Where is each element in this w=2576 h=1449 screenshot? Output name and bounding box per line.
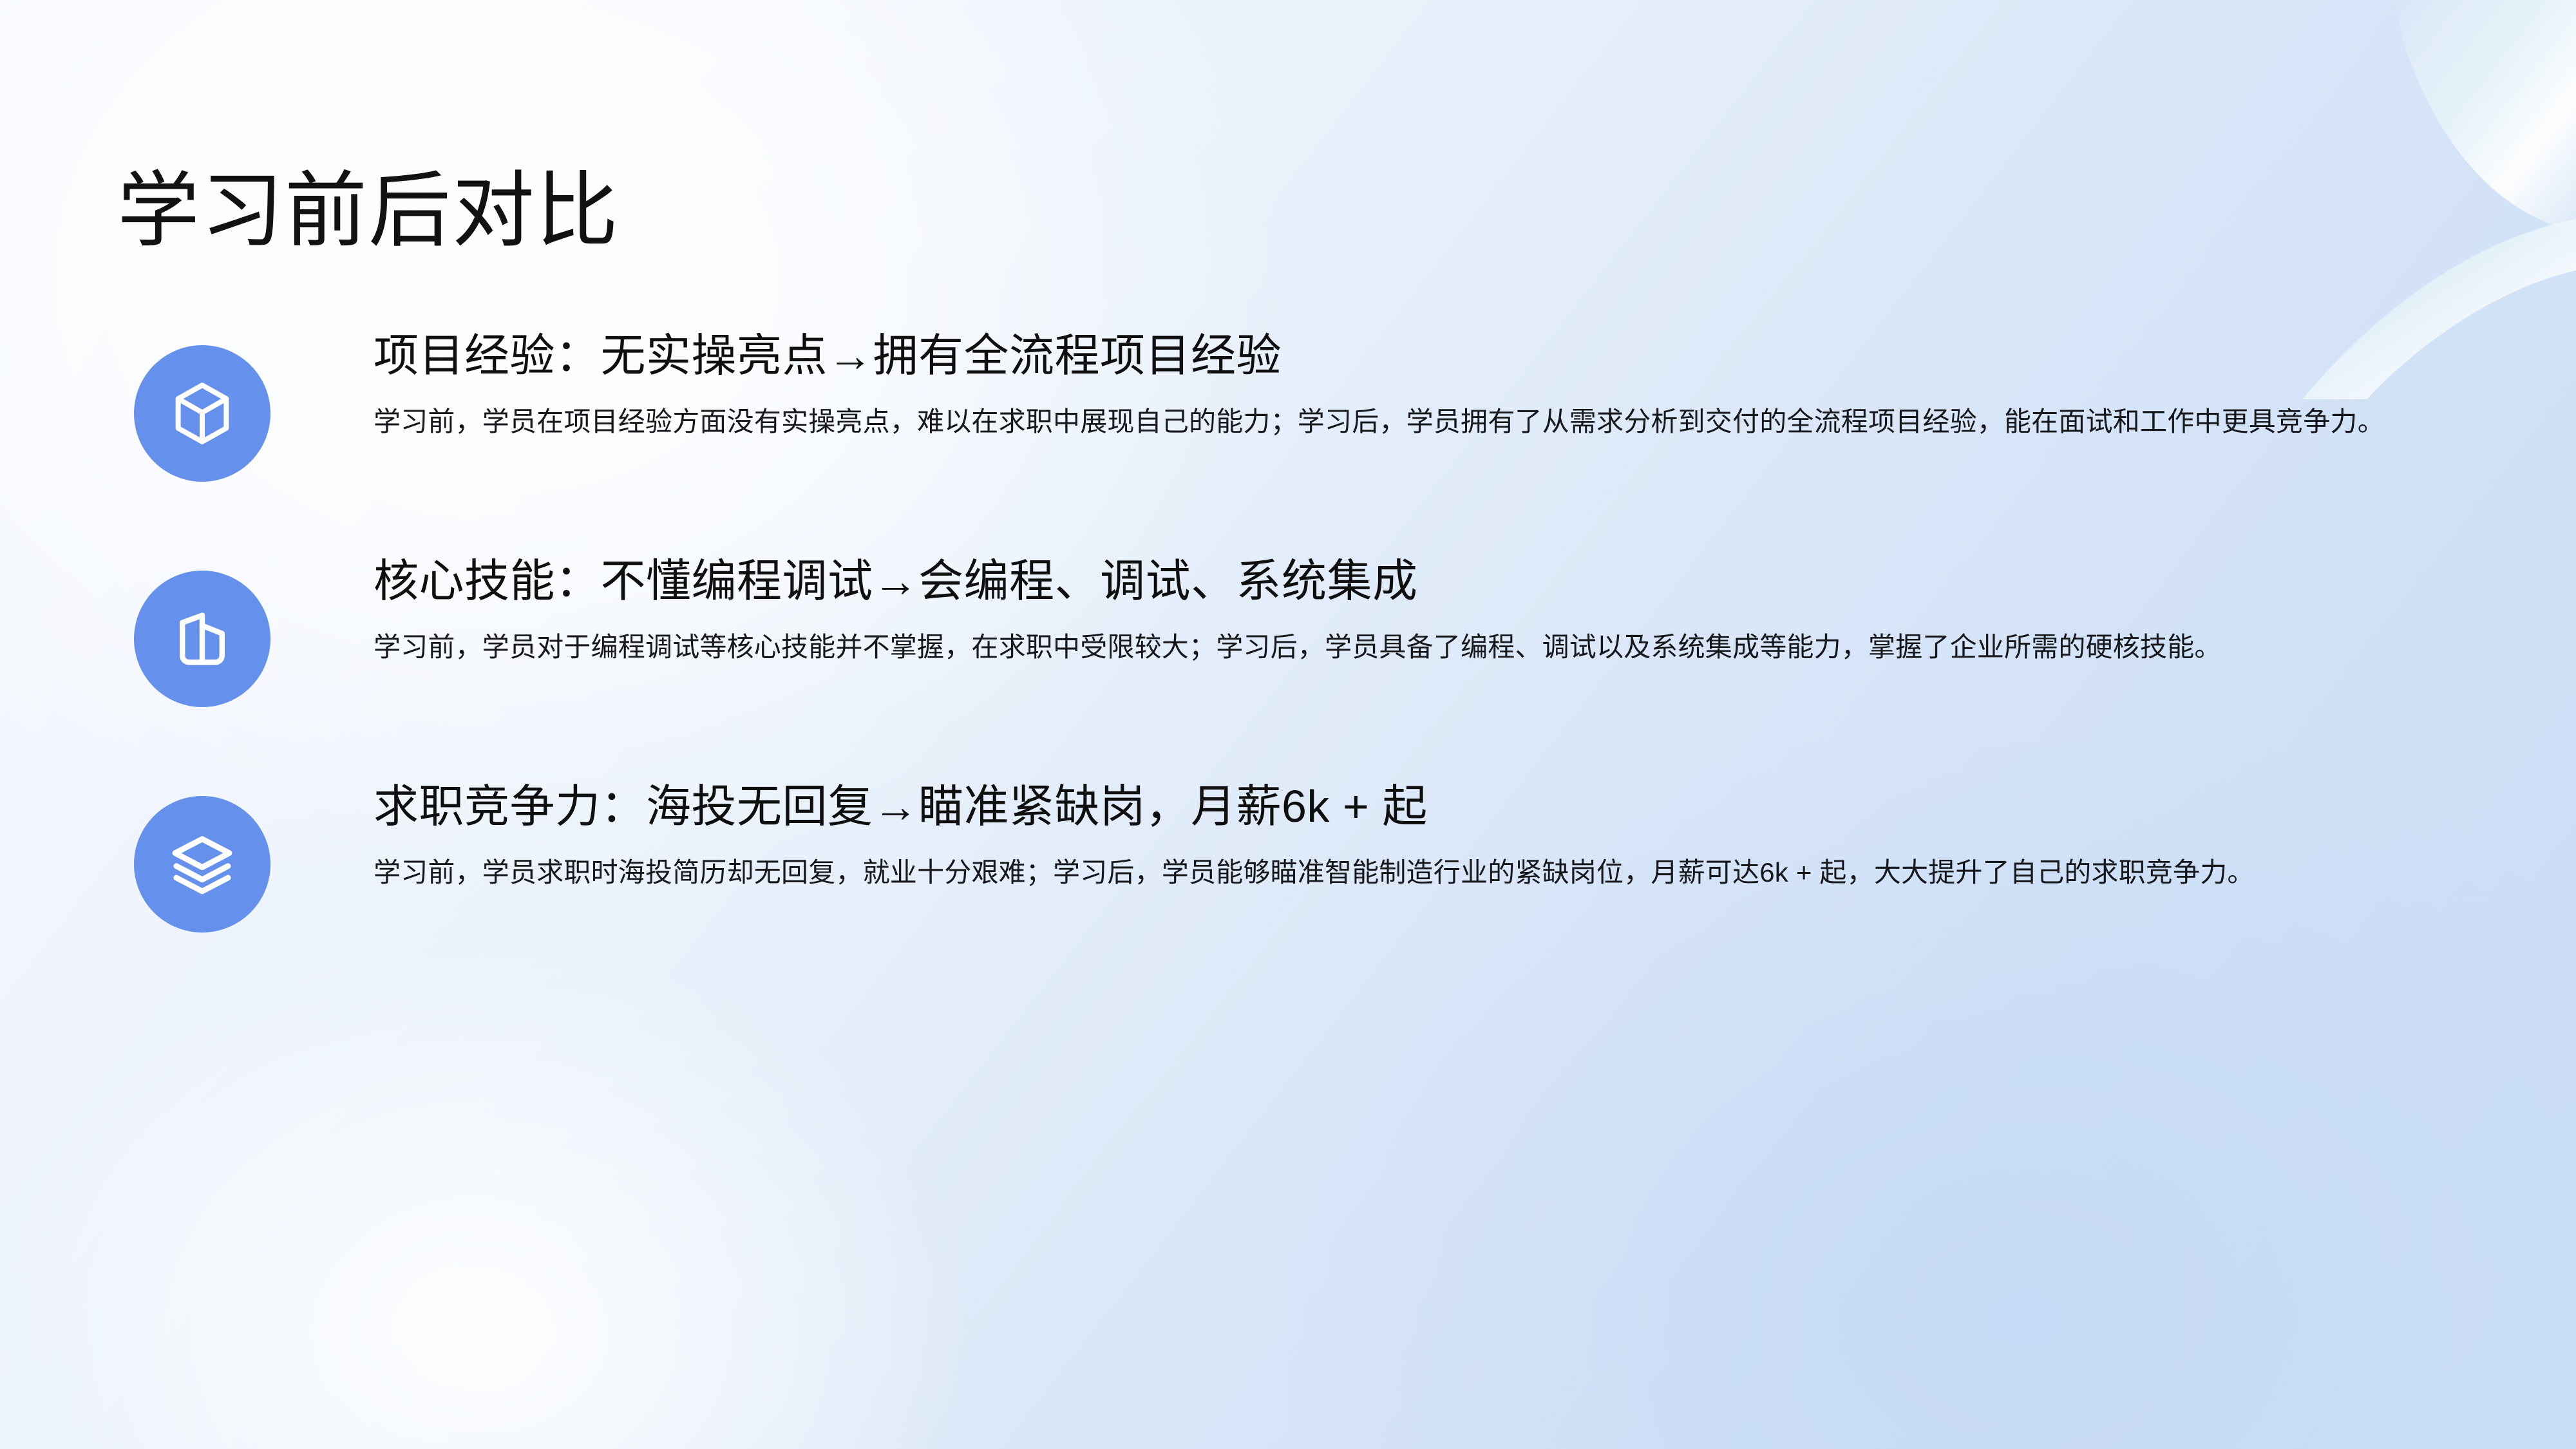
item-text-block: 核心技能：不懂编程调试→会编程、调试、系统集成 学习前，学员对于编程调试等核心技… [270,554,2576,669]
item-icon-badge [134,345,270,482]
background-glow-bottom-left [0,947,966,1449]
cube-icon [166,377,238,450]
comparison-list: 项目经验：无实操亮点→拥有全流程项目经验 学习前，学员在项目经验方面没有实操亮点… [0,328,2576,1005]
item-text-block: 求职竞争力：海投无回复→瞄准紧缺岗，月薪6k + 起 学习前，学员求职时海投简历… [270,779,2576,895]
item-body: 学习前，学员对于编程调试等核心技能并不掌握，在求职中受限较大；学习后，学员具备了… [374,625,2421,669]
item-icon-badge [134,796,270,933]
list-item: 核心技能：不懂编程调试→会编程、调试、系统集成 学习前，学员对于编程调试等核心技… [0,554,2576,707]
slide-canvas: 学习前后对比 项目经验：无实操亮点→拥有全流程项目经验 学习前，学员在项目经验方… [0,0,2576,1449]
item-icon-badge [134,571,270,707]
item-heading: 核心技能：不懂编程调试→会编程、调试、系统集成 [374,554,2460,609]
layers-icon [166,828,238,900]
building-icon [166,603,238,675]
page-title: 学习前后对比 [117,164,620,258]
item-heading: 项目经验：无实操亮点→拥有全流程项目经验 [374,328,2460,383]
list-item: 项目经验：无实操亮点→拥有全流程项目经验 学习前，学员在项目经验方面没有实操亮点… [0,328,2576,482]
list-item: 求职竞争力：海投无回复→瞄准紧缺岗，月薪6k + 起 学习前，学员求职时海投简历… [0,779,2576,933]
item-text-block: 项目经验：无实操亮点→拥有全流程项目经验 学习前，学员在项目经验方面没有实操亮点… [270,328,2576,444]
item-heading: 求职竞争力：海投无回复→瞄准紧缺岗，月薪6k + 起 [374,779,2460,834]
item-body: 学习前，学员求职时海投简历却无回复，就业十分艰难；学习后，学员能够瞄准智能制造行… [374,851,2421,895]
item-body: 学习前，学员在项目经验方面没有实操亮点，难以在求职中展现自己的能力；学习后，学员… [374,400,2421,444]
